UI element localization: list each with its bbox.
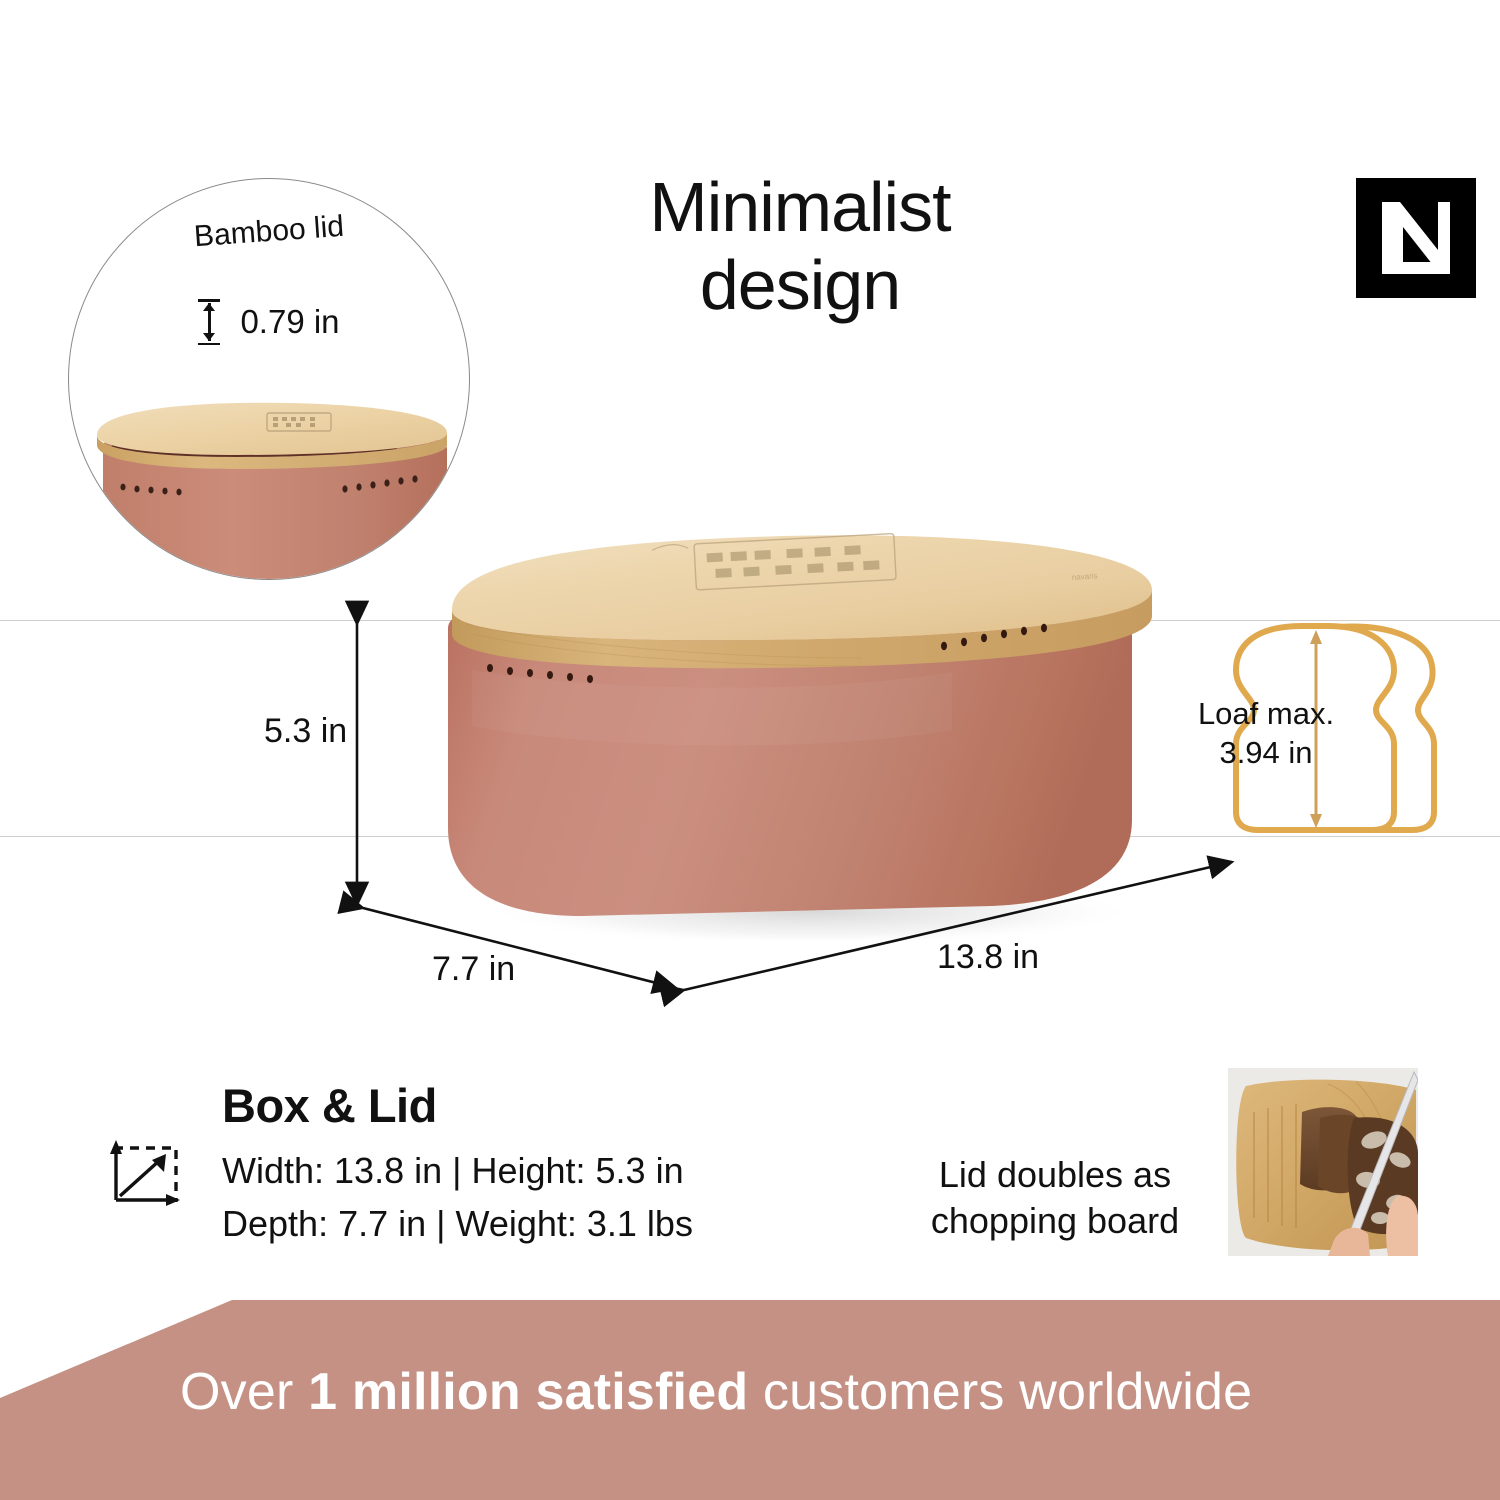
chopping-board-line2: chopping board bbox=[905, 1198, 1205, 1244]
depth-dimension-label: 7.7 in bbox=[432, 950, 515, 989]
page-title: Minimalist design bbox=[470, 168, 1130, 325]
svg-text:navaris: navaris bbox=[1072, 571, 1098, 582]
spec-section-title: Box & Lid bbox=[222, 1078, 437, 1133]
chopping-board-line1: Lid doubles as bbox=[905, 1152, 1205, 1198]
loaf-max-line2: 3.94 in bbox=[1186, 733, 1346, 772]
bamboo-lid-closeup-illustration bbox=[68, 391, 470, 580]
banner-text-post: customers worldwide bbox=[748, 1363, 1252, 1421]
chopping-board-caption: Lid doubles as chopping board bbox=[905, 1152, 1205, 1244]
dimensions-icon bbox=[106, 1134, 184, 1212]
banner-text-pre: Over bbox=[180, 1363, 308, 1421]
width-dimension-label: 13.8 in bbox=[937, 938, 1039, 977]
bread-on-cutting-board-photo bbox=[1228, 1068, 1418, 1256]
loaf-max-label: Loaf max. 3.94 in bbox=[1186, 694, 1346, 772]
bamboo-lid-label: Bamboo lid bbox=[68, 201, 469, 263]
spec-line-2: Depth: 7.7 in | Weight: 3.1 lbs bbox=[222, 1198, 693, 1251]
spec-line-1: Width: 13.8 in | Height: 5.3 in bbox=[222, 1145, 693, 1198]
brand-logo bbox=[1356, 178, 1476, 298]
height-arrow-icon bbox=[198, 299, 220, 345]
page-title-line2: design bbox=[470, 246, 1130, 324]
bamboo-lid-thickness-value: 0.79 in bbox=[240, 303, 339, 341]
ln-monogram-icon bbox=[1356, 178, 1476, 298]
cutting-board-scene bbox=[1228, 1068, 1418, 1256]
bamboo-lid-thickness: 0.79 in bbox=[69, 299, 469, 345]
height-dimension-label: 5.3 in bbox=[264, 712, 347, 751]
bottom-banner-text: Over 1 million satisfied customers world… bbox=[180, 1362, 1480, 1422]
spec-section-lines: Width: 13.8 in | Height: 5.3 in Depth: 7… bbox=[222, 1145, 693, 1250]
bread-box-illustration: navaris bbox=[432, 520, 1192, 940]
bamboo-lid-inset: Bamboo lid 0.79 in bbox=[68, 178, 470, 580]
loaf-max-line1: Loaf max. bbox=[1186, 694, 1346, 733]
banner-text-bold: 1 million satisfied bbox=[308, 1363, 748, 1421]
page-title-line1: Minimalist bbox=[470, 168, 1130, 246]
infographic-canvas: Minimalist design Bamboo lid 0.79 in bbox=[0, 0, 1500, 1500]
